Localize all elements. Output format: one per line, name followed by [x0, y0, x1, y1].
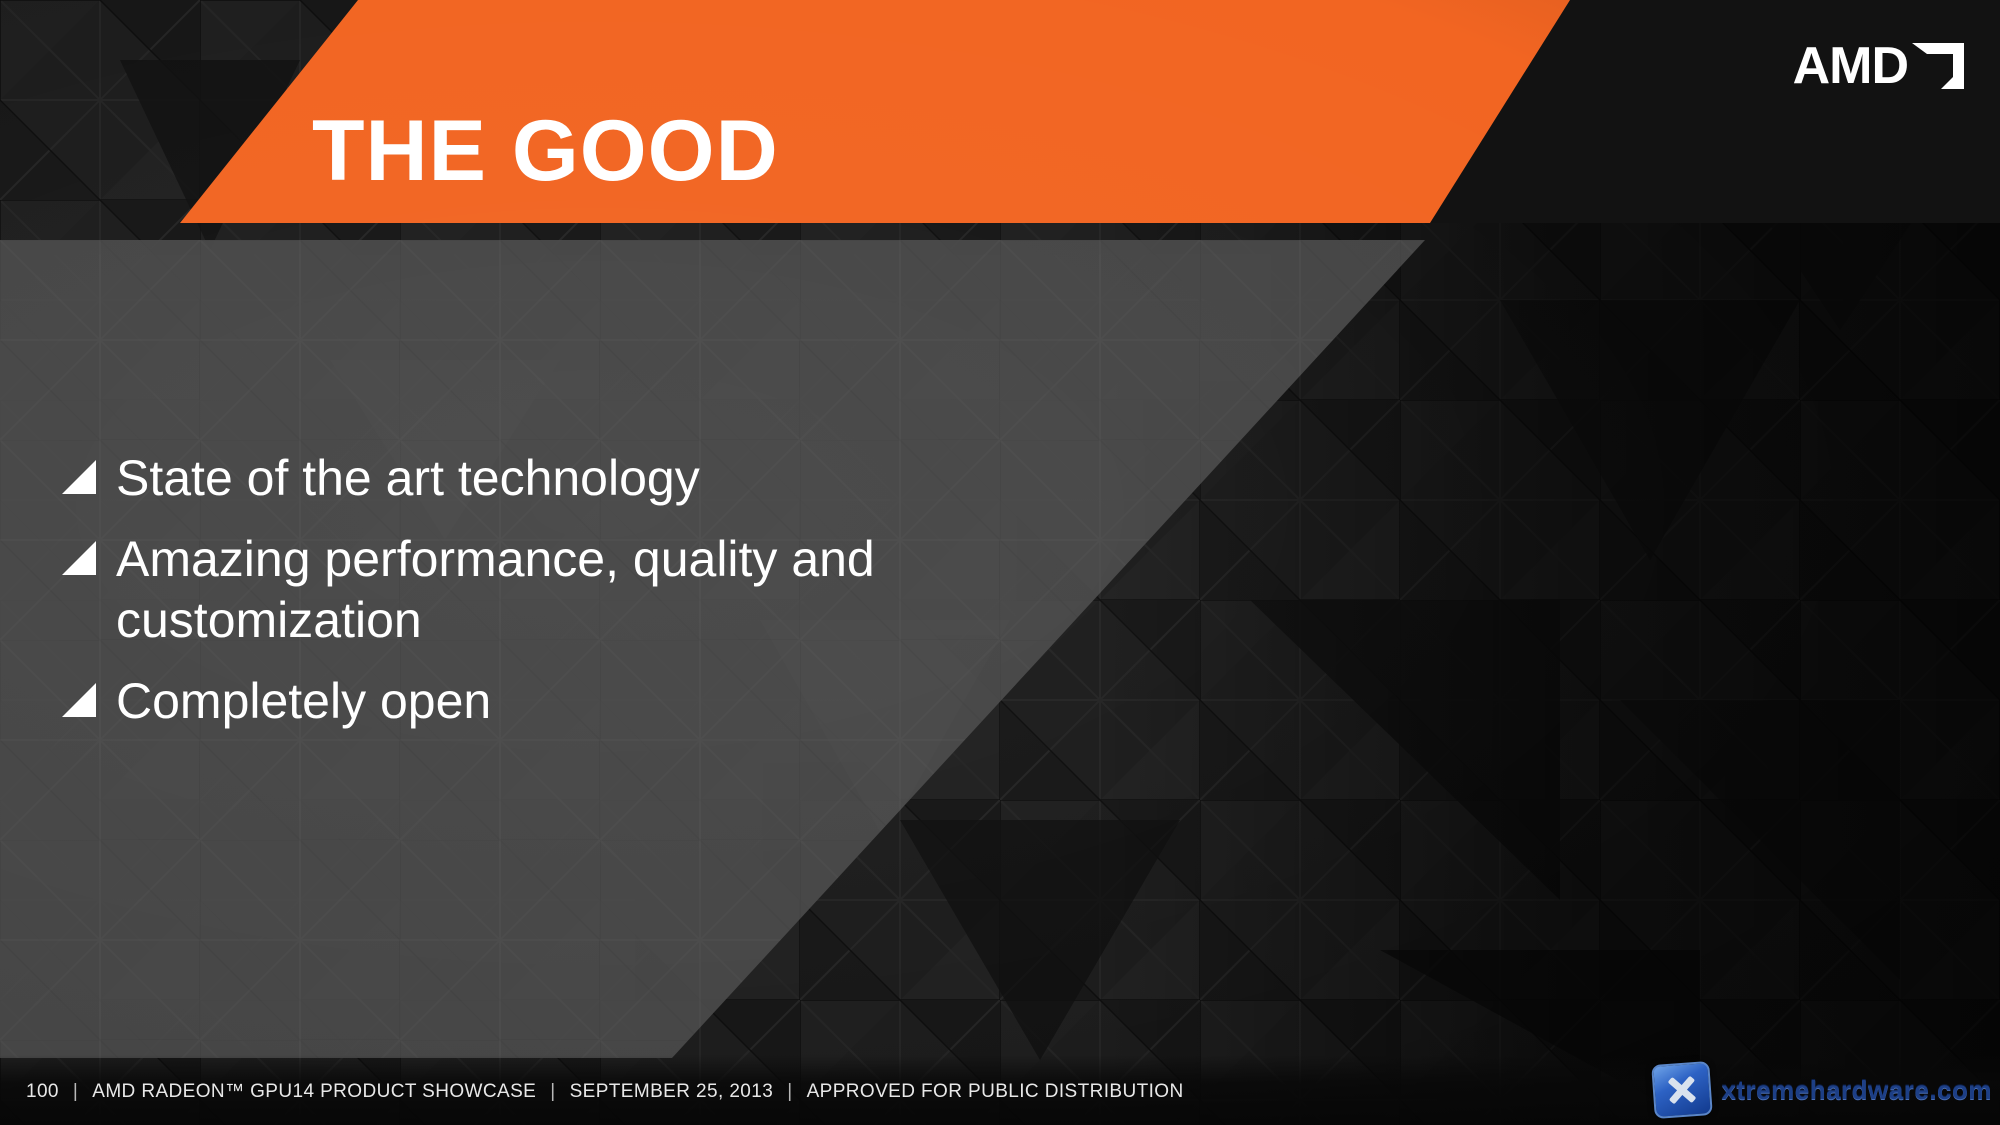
bullet-list: State of the art technology Amazing perf…: [62, 448, 882, 752]
list-item: Amazing performance, quality and customi…: [62, 529, 882, 651]
amd-logo: AMD: [1793, 40, 1964, 92]
footer-event-name: AMD RADEON™ GPU14 PRODUCT SHOWCASE: [92, 1081, 536, 1103]
bullet-text: Completely open: [116, 671, 491, 732]
amd-arrow-icon: [1912, 43, 1964, 89]
bullet-text: State of the art technology: [116, 448, 700, 509]
triangle-bullet-icon: [62, 460, 96, 494]
list-item: Completely open: [62, 671, 882, 732]
list-item: State of the art technology: [62, 448, 882, 509]
triangle-bullet-icon: [62, 541, 96, 575]
footer-separator: |: [787, 1081, 792, 1103]
x-badge-icon: [1652, 1061, 1714, 1119]
footer-separator: |: [550, 1081, 555, 1103]
watermark-site-text: xtremehardware.com: [1721, 1075, 1992, 1106]
footer-distribution-notice: APPROVED FOR PUBLIC DISTRIBUTION: [807, 1081, 1184, 1103]
watermark: xtremehardware.com: [1653, 1063, 1992, 1117]
triangle-bullet-icon: [62, 683, 96, 717]
presentation-slide: THE GOOD AMD State of the art technology…: [0, 0, 2000, 1125]
page-title: THE GOOD: [312, 108, 779, 194]
footer: 100 | AMD RADEON™ GPU14 PRODUCT SHOWCASE…: [26, 1081, 1184, 1103]
footer-separator: |: [73, 1081, 78, 1103]
footer-page-number: 100: [26, 1081, 59, 1103]
footer-date: SEPTEMBER 25, 2013: [570, 1081, 774, 1103]
amd-wordmark: AMD: [1793, 40, 1908, 92]
bullet-text: Amazing performance, quality and customi…: [116, 529, 882, 651]
